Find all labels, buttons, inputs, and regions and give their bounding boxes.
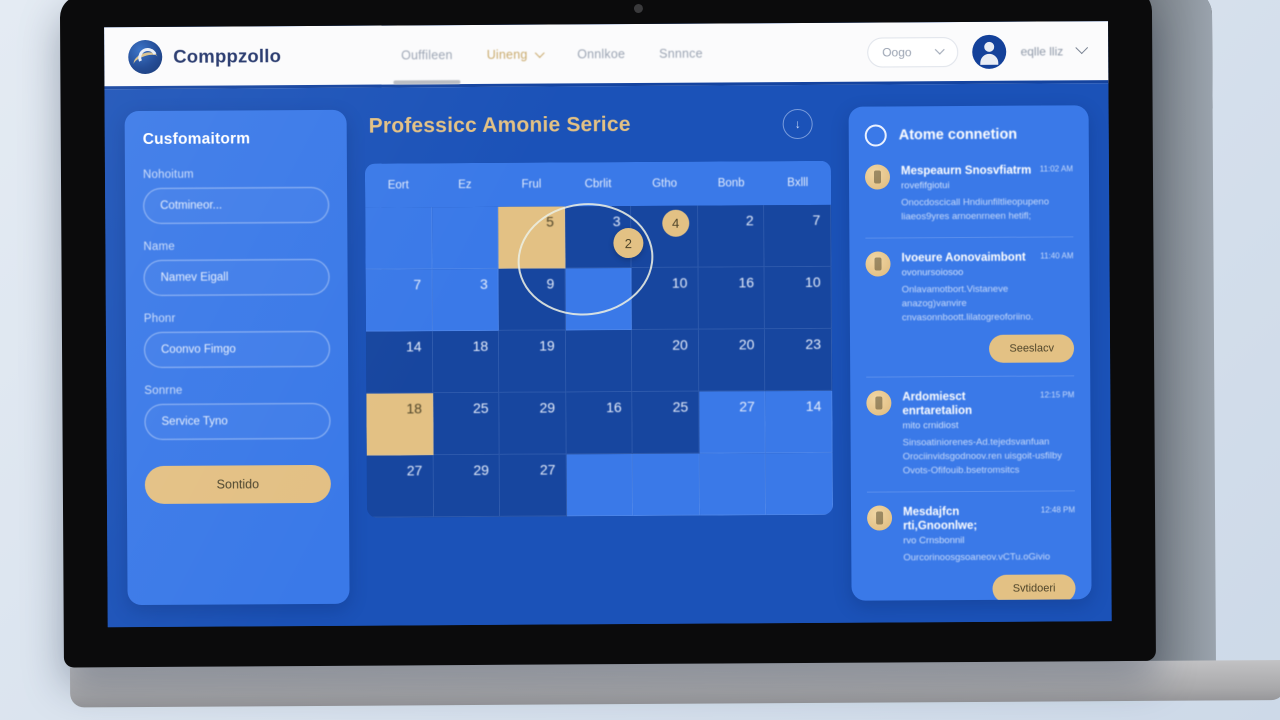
notification-title: Ivoeure Aonovaimbont: [901, 250, 1034, 265]
notifications-panel: Atome connetion Mespeaurn Snosvfiatrm11:…: [849, 105, 1092, 600]
calendar-cell-value: 7: [812, 212, 820, 228]
calendar-cell-value: 27: [540, 462, 556, 478]
bulb-badge-icon: [866, 390, 891, 415]
calendar-cell[interactable]: 5: [498, 206, 565, 268]
user-name: eqlle lliz: [1021, 44, 1064, 58]
chevron-down-icon: [535, 48, 545, 58]
phone-input[interactable]: Coonvo Fimgo: [144, 331, 330, 368]
notification-timestamp: 12:48 PM: [1041, 504, 1075, 514]
calendar-cell-value: 14: [806, 398, 822, 414]
calendar-cell[interactable]: 10: [765, 267, 832, 329]
nav-item-4-label: Snnnce: [659, 46, 703, 60]
calendar-cell-value: 3: [613, 213, 621, 229]
top-navigation-bar: Comppzollo Ouffileen Uineng Onnlkoe Snnn…: [104, 21, 1108, 89]
calendar-cell[interactable]: [766, 453, 833, 515]
notifications-list: Mespeaurn Snosvfiatrm11:02 AMrovefifgiot…: [865, 163, 1076, 600]
calendar-cell[interactable]: 18: [366, 393, 433, 455]
notification-action-button[interactable]: Svtidoeri: [993, 574, 1076, 600]
customer-input-value: Cotmineor...: [160, 200, 222, 212]
calendar-cell[interactable]: 20: [632, 330, 699, 392]
app-body: Cusfomaitorm Nohoitum Cotmineor... Name …: [104, 83, 1111, 627]
header-dropdown-value: Oogo: [882, 45, 911, 59]
header-dropdown[interactable]: Oogo: [867, 37, 959, 68]
calendar-cell[interactable]: 25: [433, 393, 500, 455]
calendar-cell-value: 2: [746, 212, 754, 228]
notification-subtitle: rvo Crnsbonnil: [903, 535, 1075, 547]
download-icon[interactable]: ↓: [783, 109, 813, 139]
calendar-cell[interactable]: 19: [499, 330, 566, 392]
calendar-cell[interactable]: [565, 268, 632, 330]
calendar-day-header-3: Cbrlit: [565, 162, 632, 206]
refresh-badge-icon: [865, 251, 890, 276]
calendar-cell[interactable]: 16: [566, 392, 633, 454]
brand[interactable]: Comppzollo: [128, 39, 281, 74]
main-nav: Ouffileen Uineng Onnlkoe Snnnce: [399, 40, 705, 68]
calendar-cell-value: 3: [480, 276, 488, 292]
calendar-day-header-4: Gtho: [631, 162, 698, 206]
calendar-cell[interactable]: 23: [765, 329, 832, 391]
name-input-value: Namev Eigall: [161, 272, 229, 284]
calendar-day-header-0: Eort: [365, 163, 432, 207]
calendar-cell-value: 5: [546, 214, 554, 230]
notification-item[interactable]: Ivoeure Aonovaimbont11:40 AMovonursoioso…: [865, 250, 1074, 377]
calendar-cell-value: 19: [539, 338, 555, 354]
notification-body: Ivoeure Aonovaimbont11:40 AMovonursoioso…: [901, 250, 1074, 363]
notification-text: Ourcorinoosgsoaneov.vCTu.oGivio: [903, 551, 1075, 566]
field-label-2: Name: [143, 240, 329, 253]
calendar-cell-value: 7: [413, 276, 421, 292]
calendar-cell[interactable]: 27: [500, 454, 567, 516]
notification-body: Mesdajfcn rti,Gnoonlwe;12:48 PMrvo Crnsb…: [903, 504, 1076, 601]
calendar-cell-value: 25: [473, 400, 489, 416]
calendar-cell-value: 27: [739, 398, 755, 414]
info-badge-icon: [865, 164, 890, 189]
service-type-input[interactable]: Service Tyno: [144, 403, 330, 440]
calendar-cell[interactable]: 29: [499, 392, 566, 454]
calendar-cell[interactable]: [633, 454, 700, 516]
notification-timestamp: 12:15 PM: [1040, 389, 1074, 399]
notification-title: Mespeaurn Snosvfiatrm: [901, 164, 1034, 179]
calendar-cell[interactable]: [432, 207, 499, 269]
calendar-day-header-5: Bonb: [698, 161, 765, 205]
calendar-cell-value: 4: [662, 210, 689, 237]
calendar-cell[interactable]: 20: [699, 329, 766, 391]
nav-item-1-label: Ouffileen: [401, 48, 453, 62]
screen: Comppzollo Ouffileen Uineng Onnlkoe Snnn…: [104, 21, 1112, 627]
chevron-down-icon: [935, 45, 945, 55]
calendar-cell[interactable]: 29: [433, 455, 500, 517]
nav-item-3-label: Onnlkoe: [577, 47, 625, 61]
calendar-cell[interactable]: 14: [766, 391, 833, 453]
calendar-grid: 5342773910161014181920202318252916252714…: [365, 205, 833, 518]
chevron-down-icon[interactable]: [1075, 41, 1088, 54]
notification-item[interactable]: Ardomiesct enrtaretalion12:15 PMmito crn…: [866, 389, 1075, 492]
notification-top-row: Mesdajfcn rti,Gnoonlwe;12:48 PM: [903, 504, 1075, 534]
calendar-cell-value: 10: [805, 274, 821, 290]
notification-body: Mespeaurn Snosvfiatrm11:02 AMrovefifgiot…: [901, 163, 1073, 224]
notification-action-button[interactable]: Seeslacv: [989, 334, 1074, 363]
calendar-cell-value: 9: [546, 276, 554, 292]
submit-button[interactable]: Sontido: [145, 465, 331, 504]
notifications-header: Atome connetion: [865, 123, 1073, 146]
nav-item-1[interactable]: Ouffileen: [399, 42, 455, 68]
calendar-cell[interactable]: 27: [699, 391, 766, 453]
notification-title: Mesdajfcn rti,Gnoonlwe;: [903, 504, 1035, 534]
status-badge: 2: [613, 228, 643, 258]
calendar-day-header-2: Frul: [498, 162, 565, 206]
notification-subtitle: rovefifgiotui: [901, 180, 1073, 192]
calendar-cell-value: 18: [473, 338, 489, 354]
service-type-input-value: Service Tyno: [161, 416, 227, 428]
calendar-cell[interactable]: 7: [765, 205, 832, 267]
calendar-cell[interactable]: [365, 207, 432, 269]
calendar-cell-value: 20: [672, 337, 688, 353]
laptop-device: Comppzollo Ouffileen Uineng Onnlkoe Snnn…: [60, 0, 1216, 696]
notification-body: Ardomiesct enrtaretalion12:15 PMmito crn…: [902, 389, 1075, 478]
calendar-cell-value: 14: [406, 338, 422, 354]
nav-item-3[interactable]: Onnlkoe: [575, 41, 627, 67]
calendar: EortEzFrulCbrlitGthoBonbBxlll 5342773910…: [365, 161, 833, 518]
calendar-cell[interactable]: 18: [432, 331, 499, 393]
calendar-cell-value: 16: [606, 399, 622, 415]
calendar-day-header-1: Ez: [431, 163, 498, 207]
name-input[interactable]: Namev Eigall: [143, 259, 329, 296]
calendar-day-header-6: Bxlll: [764, 161, 831, 205]
notifications-title: Atome connetion: [899, 127, 1018, 144]
phone-input-value: Coonvo Fimgo: [161, 343, 236, 355]
calendar-cell-value: 29: [539, 400, 555, 416]
calendar-cell[interactable]: 2: [698, 205, 765, 267]
laptop-bezel: Comppzollo Ouffileen Uineng Onnlkoe Snnn…: [60, 0, 1156, 668]
calendar-cell[interactable]: 9: [499, 268, 566, 330]
nav-item-4[interactable]: Snnnce: [657, 40, 705, 66]
brand-name: Comppzollo: [173, 45, 281, 68]
calendar-cell[interactable]: [566, 330, 633, 392]
notification-timestamp: 11:02 AM: [1040, 163, 1073, 173]
company-logo-icon: [128, 39, 162, 73]
calendar-cell-value: 16: [738, 274, 754, 290]
status-ring-icon: [865, 124, 887, 146]
notification-top-row: Mespeaurn Snosvfiatrm11:02 AM: [901, 163, 1073, 178]
notification-item[interactable]: Mesdajfcn rti,Gnoonlwe;12:48 PMrvo Crnsb…: [867, 504, 1076, 601]
calendar-cell[interactable]: 14: [366, 331, 433, 393]
calendar-cell-value: 27: [407, 462, 423, 478]
calendar-cell[interactable]: [566, 454, 633, 516]
calendar-cell-value: 20: [739, 336, 755, 352]
user-avatar-icon[interactable]: [972, 34, 1006, 68]
calendar-cell[interactable]: 10: [632, 268, 699, 330]
customer-input[interactable]: Cotmineor...: [143, 187, 329, 224]
notification-top-row: Ardomiesct enrtaretalion12:15 PM: [902, 389, 1074, 419]
laptop-base: [70, 660, 1280, 707]
calendar-cell-value: 10: [672, 275, 688, 291]
calendar-cell[interactable]: 25: [633, 392, 700, 454]
notification-item[interactable]: Mespeaurn Snosvfiatrm11:02 AMrovefifgiot…: [865, 163, 1073, 238]
webcam-icon: [634, 4, 643, 13]
calendar-cell[interactable]: 16: [698, 267, 765, 329]
notification-title: Ardomiesct enrtaretalion: [902, 389, 1034, 419]
nav-item-2[interactable]: Uineng: [485, 41, 546, 67]
calendar-cell-value: 23: [805, 336, 821, 352]
notification-subtitle: ovonursoiosoo: [902, 267, 1074, 279]
notification-text: Onocdoscicall Hndiunfiltlieopupeno liaeo…: [901, 196, 1073, 225]
notification-subtitle: mito crnidiost: [902, 420, 1074, 432]
calendar-header: Professicc Amonie Serice ↓: [369, 109, 831, 142]
notification-top-row: Ivoeure Aonovaimbont11:40 AM: [901, 250, 1073, 265]
calendar-cell[interactable]: 27: [367, 455, 434, 517]
calendar-cell-value: 18: [406, 400, 422, 416]
field-label-3: Phonr: [144, 312, 330, 325]
calendar-day-headers: EortEzFrulCbrlitGthoBonbBxlll: [365, 161, 831, 208]
calendar-cell-value: 25: [673, 399, 689, 415]
notification-text: Onlavamotbort.Vistaneve anazog)vanvire c…: [902, 283, 1074, 325]
nav-item-2-label: Uineng: [487, 47, 528, 61]
header-right: Oogo eqlle lliz: [867, 34, 1086, 69]
calendar-cell-value: 29: [473, 462, 489, 478]
calendar-cell[interactable]: [700, 453, 767, 515]
field-label-4: Sonrne: [144, 384, 330, 397]
notification-text: Sinsoatiniorenes-Ad.tejedsvanfuan Orocii…: [903, 436, 1075, 478]
notification-timestamp: 11:40 AM: [1040, 250, 1073, 260]
calendar-section: Professicc Amonie Serice ↓ EortEzFrulCbr…: [365, 107, 834, 604]
customer-form-card: Cusfomaitorm Nohoitum Cotmineor... Name …: [125, 110, 350, 605]
page-title: Professicc Amonie Serice: [369, 113, 631, 139]
calendar-cell[interactable]: 7: [366, 269, 433, 331]
field-label-1: Nohoitum: [143, 168, 329, 181]
calendar-cell[interactable]: 3: [432, 269, 499, 331]
alert-badge-icon: [867, 505, 892, 530]
form-title: Cusfomaitorm: [143, 130, 329, 149]
